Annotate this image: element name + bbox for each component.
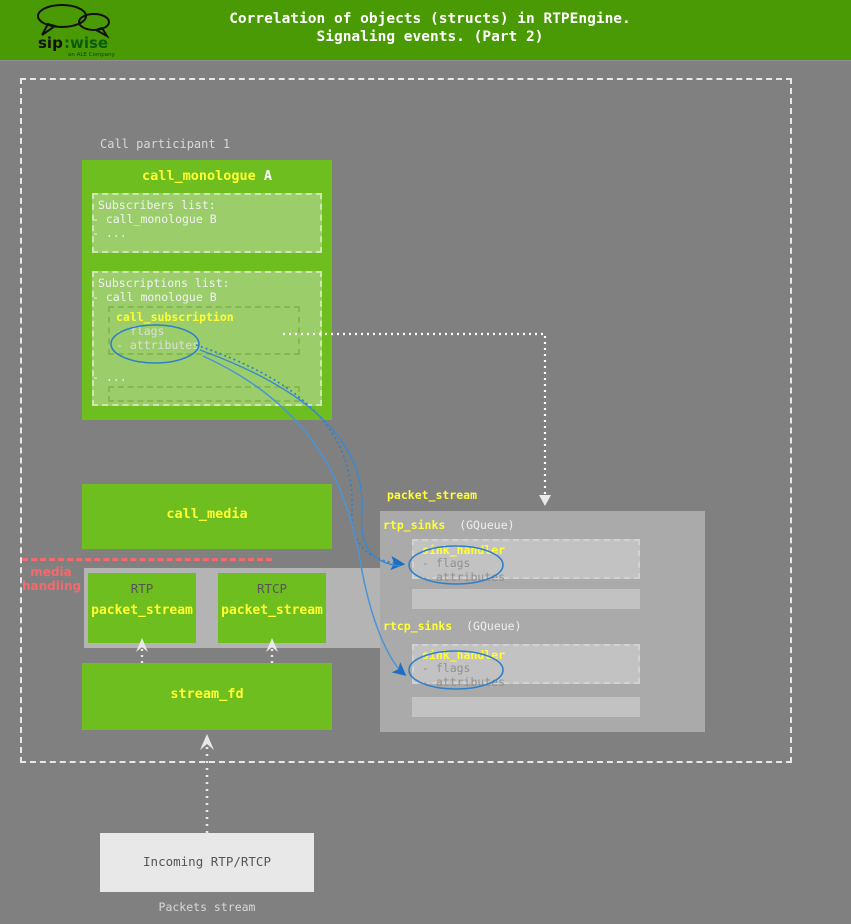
media-handling-label-line2: handling	[22, 579, 80, 593]
rtcp-packet-stream-name: packet_stream	[218, 603, 326, 618]
svg-text:an ALE Company: an ALE Company	[68, 52, 116, 58]
incoming-rtp-rtcp-box: Incoming RTP/RTCP	[100, 833, 314, 892]
page-title: Correlation of objects (structs) in RTPE…	[150, 10, 710, 46]
packets-stream-label: Packets stream	[100, 900, 314, 914]
rtcp-sinks-name: rtcp_sinks	[383, 619, 452, 633]
media-handling-label-line1: media	[22, 565, 80, 579]
rtp-sink-handler-title: sink_handler	[422, 543, 505, 557]
media-handling-label: media handling	[22, 565, 80, 593]
rtcp-sink-empty-slot	[412, 697, 640, 717]
svg-text::wise: :wise	[64, 34, 108, 52]
rtp-sink-empty-slot	[412, 589, 640, 609]
rtcp-sink-handler-attributes: - attributes	[422, 675, 505, 689]
subscriptions-heading: Subscriptions list:	[98, 276, 230, 290]
rtp-sink-handler-box: sink_handler - flags - attributes	[412, 539, 640, 579]
page-title-line2: Signaling events. (Part 2)	[150, 28, 710, 46]
rtcp-sink-handler-title: sink_handler	[422, 648, 505, 662]
call-participant-label: Call participant 1	[100, 137, 230, 151]
packet-stream-panel-label: packet_stream	[387, 488, 477, 502]
call-subscription-box: call_subscription - flags - attributes	[108, 306, 300, 355]
call-subscription-flags: - flags	[116, 324, 164, 338]
subscribers-item-0: - call_monologue B	[92, 212, 217, 226]
call-monologue-box: call_monologue A Subscribers list: - cal…	[82, 160, 332, 420]
rtcp-sink-handler-box: sink_handler - flags - attributes	[412, 644, 640, 684]
subscriptions-panel: Subscriptions list: - call monologue B c…	[92, 271, 322, 406]
call-monologue-title: call_monologue A	[82, 168, 332, 184]
rtp-sinks-kind: (GQueue)	[459, 518, 514, 532]
call-media-title: call_media	[82, 506, 332, 522]
rtp-packet-stream-box: RTP packet_stream	[88, 573, 196, 643]
rtcp-packet-stream-box: RTCP packet_stream	[218, 573, 326, 643]
subscriptions-more: - ...	[92, 370, 127, 384]
rtcp-caption: RTCP	[218, 581, 326, 596]
page-title-line1: Correlation of objects (structs) in RTPE…	[150, 10, 710, 28]
packet-stream-sinks-panel: rtp_sinks (GQueue) sink_handler - flags …	[380, 511, 705, 732]
rtp-sink-handler-flags: - flags	[422, 556, 470, 570]
page-header: sip :wise an ALE Company Correlation of …	[0, 0, 851, 61]
call-media-box: call_media	[82, 484, 332, 549]
call-subscription-title: call_subscription	[116, 310, 234, 324]
call-monologue-title-text: call_monologue	[142, 168, 256, 184]
rtp-sink-handler-attributes: - attributes	[422, 570, 505, 584]
rtp-sinks-label: rtp_sinks (GQueue)	[383, 518, 515, 532]
rtp-caption: RTP	[88, 581, 196, 596]
call-monologue-suffix: A	[264, 168, 272, 184]
incoming-rtp-rtcp-label: Incoming RTP/RTCP	[100, 854, 314, 869]
subscriptions-item: - call monologue B	[92, 290, 217, 304]
subscribers-panel: Subscribers list: - call_monologue B - .…	[92, 193, 322, 253]
rtcp-sink-handler-flags: - flags	[422, 661, 470, 675]
subscribers-item-1: - ...	[92, 226, 127, 240]
sipwise-logo: sip :wise an ALE Company	[28, 4, 128, 58]
svg-text:sip: sip	[38, 34, 63, 52]
call-subscription-placeholder-box	[108, 386, 300, 402]
rtp-sinks-name: rtp_sinks	[383, 518, 445, 532]
media-handling-divider	[22, 558, 272, 561]
rtcp-sinks-label: rtcp_sinks (GQueue)	[383, 619, 522, 633]
rtcp-sinks-kind: (GQueue)	[466, 619, 521, 633]
stream-fd-title: stream_fd	[82, 686, 332, 702]
sipwise-logo-icon: sip :wise an ALE Company	[28, 4, 128, 58]
call-subscription-attributes: - attributes	[116, 338, 199, 352]
subscribers-heading: Subscribers list:	[98, 198, 216, 212]
stream-fd-box: stream_fd	[82, 663, 332, 730]
rtp-packet-stream-name: packet_stream	[88, 603, 196, 618]
